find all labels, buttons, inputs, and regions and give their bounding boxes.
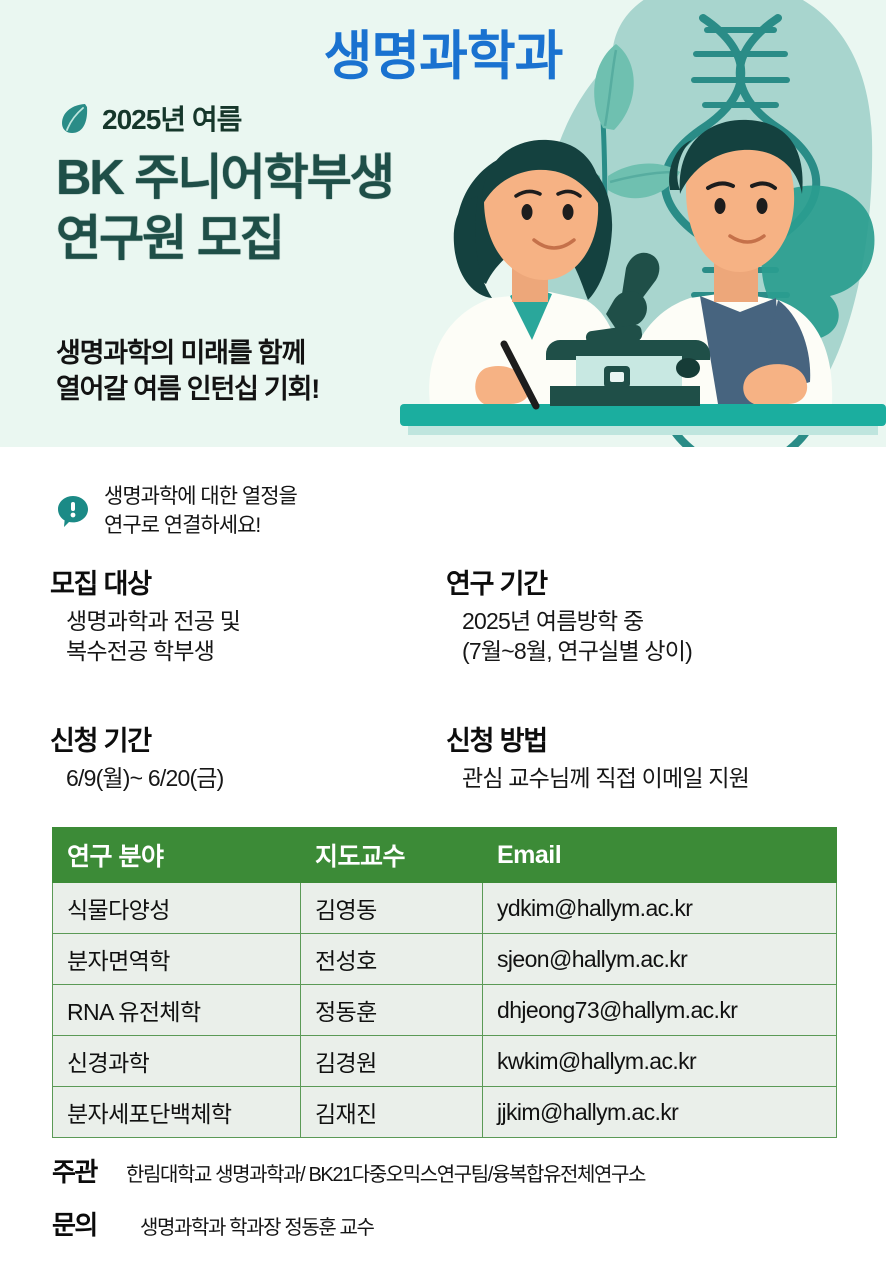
info-block-target: 모집 대상 생명과학과 전공 및 복수전공 학부생 xyxy=(50,562,240,667)
cell-professor: 전성호 xyxy=(301,934,483,985)
info-value-target: 생명과학과 전공 및 복수전공 학부생 xyxy=(50,607,240,667)
callout-line-2: 연구로 연결하세요! xyxy=(104,511,297,540)
footer: 주관 한림대학교 생명과학과/ BK21다중오믹스연구팀/융복합유전체연구소 문… xyxy=(52,1152,886,1258)
footer-contact-label: 문의 xyxy=(52,1205,126,1242)
poster-root: 생명과학과 2025년 여름 BK 주니어학부생 연구원 모집 생명과학의 미래… xyxy=(0,0,886,1280)
subheadline: 생명과학의 미래를 함께 열어갈 여름 인턴십 기회! xyxy=(56,335,319,408)
cell-email[interactable]: jjkim@hallym.ac.kr xyxy=(483,1087,837,1138)
professor-table: 연구 분야 지도교수 Email 식물다양성 김영동 ydkim@hallym.… xyxy=(52,827,837,1138)
footer-contact-value: 생명과학과 학과장 정동훈 교수 xyxy=(126,1211,373,1240)
info-value-apply-method-line-1: 관심 교수님께 직접 이메일 지원 xyxy=(462,764,749,794)
info-value-target-line-1: 생명과학과 전공 및 xyxy=(66,607,240,637)
callout-text: 생명과학에 대한 열정을 연구로 연결하세요! xyxy=(104,482,297,541)
cell-field: 분자세포단백체학 xyxy=(53,1087,301,1138)
info-label-target: 모집 대상 xyxy=(50,562,240,601)
footer-contact-row: 문의 생명과학과 학과장 정동훈 교수 xyxy=(52,1205,886,1242)
callout: 생명과학에 대한 열정을 연구로 연결하세요! xyxy=(58,482,297,541)
table-row: 분자면역학 전성호 sjeon@hallym.ac.kr xyxy=(53,934,837,985)
info-value-period-line-1: 2025년 여름방학 중 xyxy=(462,607,692,637)
info-label-apply-method: 신청 방법 xyxy=(446,719,749,758)
info-label-apply-period: 신청 기간 xyxy=(50,719,224,758)
footer-host-row: 주관 한림대학교 생명과학과/ BK21다중오믹스연구팀/융복합유전체연구소 xyxy=(52,1152,886,1189)
speech-bubble-exclamation-icon xyxy=(58,495,88,527)
table-header: 연구 분야 지도교수 Email xyxy=(53,828,837,883)
cell-professor: 김영동 xyxy=(301,883,483,934)
page-title: 생명과학과 xyxy=(0,14,886,90)
info-label-period: 연구 기간 xyxy=(446,562,692,601)
footer-host-value: 한림대학교 생명과학과/ BK21다중오믹스연구팀/융복합유전체연구소 xyxy=(126,1158,645,1187)
lab-desk xyxy=(400,404,886,426)
headline-line-2: 연구원 모집 xyxy=(56,209,393,270)
headline: BK 주니어학부생 연구원 모집 xyxy=(56,148,393,271)
cell-field: RNA 유전체학 xyxy=(53,985,301,1036)
info-value-apply-method: 관심 교수님께 직접 이메일 지원 xyxy=(446,764,749,794)
column-header-field: 연구 분야 xyxy=(53,828,301,883)
cell-professor: 김경원 xyxy=(301,1036,483,1087)
info-block-period: 연구 기간 2025년 여름방학 중 (7월~8월, 연구실별 상이) xyxy=(446,562,692,667)
cell-field: 신경과학 xyxy=(53,1036,301,1087)
cell-field: 식물다양성 xyxy=(53,883,301,934)
leaf-icon xyxy=(60,102,90,134)
cell-professor: 정동훈 xyxy=(301,985,483,1036)
info-value-apply-period: 6/9(월)~ 6/20(금) xyxy=(50,764,224,794)
table-header-row: 연구 분야 지도교수 Email xyxy=(53,828,837,883)
cell-professor: 김재진 xyxy=(301,1087,483,1138)
cell-email[interactable]: kwkim@hallym.ac.kr xyxy=(483,1036,837,1087)
table-row: 식물다양성 김영동 ydkim@hallym.ac.kr xyxy=(53,883,837,934)
professor-table-wrapper: 연구 분야 지도교수 Email 식물다양성 김영동 ydkim@hallym.… xyxy=(52,827,836,1138)
info-block-apply-period: 신청 기간 6/9(월)~ 6/20(금) xyxy=(50,719,224,794)
hero-section: 생명과학과 2025년 여름 BK 주니어학부생 연구원 모집 생명과학의 미래… xyxy=(0,0,886,447)
cell-field: 분자면역학 xyxy=(53,934,301,985)
info-value-target-line-2: 복수전공 학부생 xyxy=(66,637,240,667)
callout-line-1: 생명과학에 대한 열정을 xyxy=(104,482,297,511)
subheadline-line-1: 생명과학의 미래를 함께 xyxy=(56,335,319,371)
column-header-professor: 지도교수 xyxy=(301,828,483,883)
table-row: 신경과학 김경원 kwkim@hallym.ac.kr xyxy=(53,1036,837,1087)
season-row: 2025년 여름 xyxy=(60,98,241,138)
subheadline-line-2: 열어갈 여름 인턴십 기회! xyxy=(56,371,319,407)
table-row: 분자세포단백체학 김재진 jjkim@hallym.ac.kr xyxy=(53,1087,837,1138)
info-value-period-line-2: (7월~8월, 연구실별 상이) xyxy=(462,637,692,667)
column-header-email: Email xyxy=(483,828,837,883)
table-body: 식물다양성 김영동 ydkim@hallym.ac.kr 분자면역학 전성호 s… xyxy=(53,883,837,1138)
cell-email[interactable]: dhjeong73@hallym.ac.kr xyxy=(483,985,837,1036)
season-label: 2025년 여름 xyxy=(102,98,241,138)
cell-email[interactable]: sjeon@hallym.ac.kr xyxy=(483,934,837,985)
table-row: RNA 유전체학 정동훈 dhjeong73@hallym.ac.kr xyxy=(53,985,837,1036)
footer-host-label: 주관 xyxy=(52,1152,126,1189)
info-value-apply-period-line-1: 6/9(월)~ 6/20(금) xyxy=(66,764,224,794)
info-value-period: 2025년 여름방학 중 (7월~8월, 연구실별 상이) xyxy=(446,607,692,667)
info-block-apply-method: 신청 방법 관심 교수님께 직접 이메일 지원 xyxy=(446,719,749,794)
cell-email[interactable]: ydkim@hallym.ac.kr xyxy=(483,883,837,934)
headline-line-1: BK 주니어학부생 xyxy=(56,148,393,209)
